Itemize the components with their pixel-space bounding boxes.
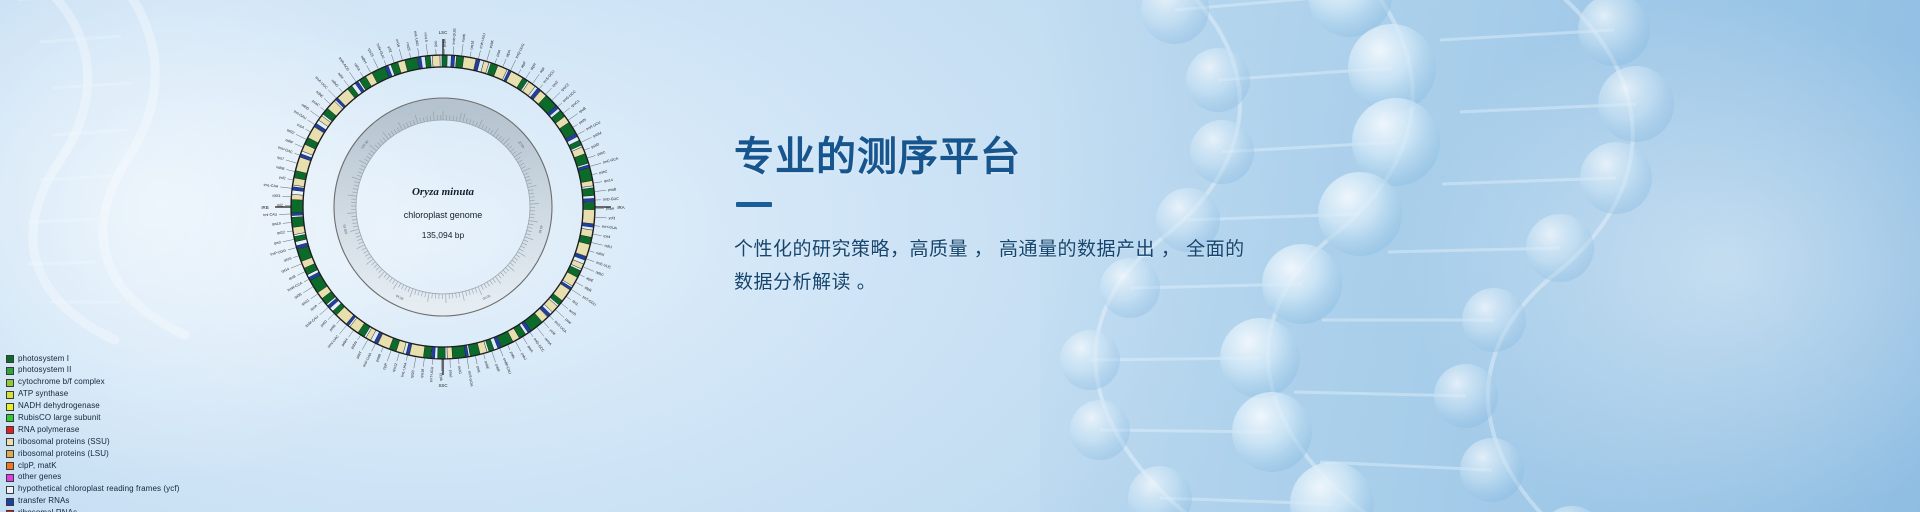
gene-label: trnT-GGU bbox=[582, 295, 598, 307]
gene-label: rps2 bbox=[551, 80, 559, 88]
legend-label: photosystem I bbox=[18, 354, 69, 365]
gene-label: rps11 bbox=[301, 298, 310, 306]
gene-label: trnN-GUU bbox=[376, 43, 386, 60]
legend-label: other genes bbox=[18, 472, 61, 483]
legend-label: ribosomal proteins (SSU) bbox=[18, 437, 110, 448]
gene-label: trnS-GGA bbox=[467, 371, 474, 388]
legend-swatch bbox=[6, 426, 14, 434]
legend-item: ribosomal proteins (SSU) bbox=[6, 436, 179, 448]
hero-subtitle: 个性化的研究策略，高质量 ， 高通量的数据产出 ， 全面的数据分析解读 。 bbox=[734, 233, 1264, 300]
legend-label: clpP, matK bbox=[18, 461, 57, 472]
genome-species-name: Oryza minuta bbox=[412, 186, 475, 198]
gene-label: rpl16 bbox=[283, 256, 292, 262]
gene-label: atpF bbox=[520, 60, 527, 69]
region-label-ssc: SSC bbox=[438, 383, 447, 388]
gene-label: atpE bbox=[586, 276, 595, 283]
gene-label: ndhA bbox=[353, 62, 361, 72]
gene-label: ycf4 bbox=[549, 328, 556, 336]
gene-label: ndhJ bbox=[604, 244, 613, 250]
gene-label: rps8 bbox=[288, 274, 296, 281]
gene-label: rps3 bbox=[274, 240, 282, 245]
gene-label: rpl23 bbox=[272, 194, 280, 199]
title-underline-rule bbox=[736, 202, 772, 207]
gene-label: trnW-CCA bbox=[287, 281, 304, 293]
legend-item: RubisCO large subunit bbox=[6, 412, 179, 424]
gene-label: rrn5 bbox=[433, 41, 437, 48]
gene-label: trnI-GAU bbox=[293, 109, 307, 120]
gene-label: ycf1 bbox=[387, 46, 393, 54]
gene-label: rpl36 bbox=[294, 292, 303, 300]
genome-length: 135,094 bp bbox=[422, 230, 465, 240]
gene-label: trnfM-CAU bbox=[502, 357, 512, 375]
gene-label: ndhK bbox=[596, 251, 606, 257]
gene-label: ycf2 bbox=[279, 175, 286, 180]
gene-label: petL bbox=[476, 366, 481, 374]
gene-label: ccsA bbox=[296, 123, 305, 131]
gene-label: petG bbox=[457, 366, 462, 374]
gene-segment bbox=[486, 339, 494, 351]
gene-label: psaI bbox=[564, 317, 572, 325]
gene-segment bbox=[451, 56, 455, 67]
legend-item: hypothetical chloroplast reading frames … bbox=[6, 484, 179, 496]
gene-label: psbC bbox=[597, 150, 607, 157]
gene-label: ndhH bbox=[360, 55, 368, 65]
gene-label: trnC-GCA bbox=[602, 156, 619, 164]
gene-label: trnH-GUG bbox=[452, 28, 457, 45]
gene-label: psbF bbox=[494, 364, 501, 374]
legend-label: hypothetical chloroplast reading frames … bbox=[18, 484, 179, 495]
genome-legend: photosystem Iphotosystem IIcytochrome b/… bbox=[6, 353, 179, 512]
legend-label: photosystem II bbox=[18, 365, 71, 376]
gene-label: atpA bbox=[505, 49, 512, 58]
gene-label: ndhI bbox=[337, 72, 344, 80]
gene-label: trnD-GUC bbox=[603, 197, 620, 202]
gene-label: rpoC2 bbox=[560, 83, 570, 93]
gene-label: ycf3 bbox=[609, 216, 616, 220]
legend-label: ribosomal RNAs bbox=[18, 508, 77, 512]
gene-label: rbcL bbox=[571, 299, 579, 306]
legend-item: ribosomal RNAs bbox=[6, 508, 179, 512]
legend-item: cytochrome b/f complex bbox=[6, 377, 179, 389]
gene-label: ndhD bbox=[301, 103, 311, 112]
legend-label: ribosomal proteins (LSU) bbox=[18, 449, 109, 460]
gene-label: psbN bbox=[350, 340, 358, 350]
legend-swatch bbox=[6, 450, 14, 458]
page-title: 专业的测序平台 bbox=[734, 136, 1354, 178]
gene-label: psbH bbox=[341, 337, 349, 346]
gene-label: ndhB bbox=[276, 165, 286, 171]
gene-label: matK bbox=[461, 33, 466, 42]
gene-segment bbox=[583, 209, 595, 224]
gene-segment bbox=[432, 56, 440, 67]
gene-label: petD bbox=[320, 319, 329, 327]
gene-label: psbJ bbox=[520, 352, 527, 361]
gene-label: psaB bbox=[608, 187, 617, 192]
legend-swatch bbox=[6, 355, 14, 363]
gene-label: psbZ bbox=[599, 169, 608, 175]
gene-label: rpoC1 bbox=[570, 99, 580, 108]
gene-segment bbox=[431, 347, 435, 358]
gene-segment bbox=[438, 347, 446, 358]
gene-label: atpH bbox=[529, 62, 537, 71]
gene-label: rpl2 bbox=[277, 203, 283, 207]
gene-label: rrn4.5 bbox=[423, 32, 428, 42]
gene-label: rrn16 bbox=[395, 38, 401, 47]
gene-label: trnM-CAU bbox=[305, 315, 320, 329]
gene-label: trnT-UGU bbox=[429, 366, 434, 382]
gene-label: atpI bbox=[539, 67, 546, 74]
gene-label: rps7 bbox=[277, 155, 285, 161]
legend-item: ATP synthase bbox=[6, 389, 179, 401]
gene-label: rpl33 bbox=[439, 373, 443, 381]
hero-copy-block: 专业的测序平台 个性化的研究策略，高质量 ， 高通量的数据产出 ， 全面的数据分… bbox=[734, 136, 1354, 300]
legend-item: NADH dehydrogenase bbox=[6, 401, 179, 413]
gene-segment bbox=[294, 234, 306, 241]
gene-label: trnV-GAC bbox=[277, 145, 293, 154]
gene-label: trnL-CAA bbox=[263, 183, 279, 189]
legend-swatch bbox=[6, 462, 14, 470]
legend-swatch bbox=[6, 367, 14, 375]
legend-item: photosystem II bbox=[6, 365, 179, 377]
gene-segment bbox=[292, 187, 303, 192]
gene-segment bbox=[442, 56, 447, 67]
legend-label: RNA polymerase bbox=[18, 425, 79, 436]
region-label-irb: IRB bbox=[261, 205, 268, 210]
gene-segment bbox=[462, 57, 476, 70]
gene-label: rpoA bbox=[310, 303, 319, 311]
gene-label: ndhF bbox=[285, 138, 295, 145]
gene-label: psbM bbox=[592, 131, 602, 138]
gene-label: rps15 bbox=[367, 48, 374, 58]
gene-label: rps19 bbox=[272, 222, 281, 227]
gene-label: psaA bbox=[606, 207, 615, 211]
gene-label: rps16 bbox=[469, 40, 475, 50]
gene-label: accD bbox=[568, 308, 577, 317]
legend-item: other genes bbox=[6, 472, 179, 484]
gene-label: trnE-UUC bbox=[596, 261, 612, 270]
legend-label: NADH dehydrogenase bbox=[18, 401, 100, 412]
legend-item: ribosomal proteins (LSU) bbox=[6, 448, 179, 460]
gene-label: petN bbox=[578, 117, 587, 125]
gene-label: trnF-GAA bbox=[362, 352, 373, 368]
gene-label: psbA bbox=[443, 38, 447, 47]
gene-label: rpl14 bbox=[281, 267, 290, 274]
gene-label: trnA-UGC bbox=[314, 76, 328, 90]
region-label-lsc: LSC bbox=[439, 30, 448, 35]
legend-swatch bbox=[6, 379, 14, 387]
gene-label: trnV-UAC bbox=[327, 334, 340, 349]
gene-label: rps14 bbox=[604, 178, 614, 183]
legend-label: ATP synthase bbox=[18, 389, 68, 400]
gene-label: psbK bbox=[489, 39, 495, 49]
gene-segment bbox=[292, 217, 304, 228]
gene-label: psbT bbox=[355, 350, 363, 360]
gene-label: psbI bbox=[495, 49, 501, 57]
gene-label: rps18 bbox=[420, 369, 425, 378]
gene-label: petA bbox=[527, 345, 535, 354]
region-label-ira: IRA bbox=[617, 205, 624, 210]
gene-label: trnR-UCU bbox=[586, 120, 602, 131]
gene-label: trnL-UAG bbox=[413, 31, 419, 47]
legend-swatch bbox=[6, 498, 14, 506]
legend-swatch bbox=[6, 414, 14, 422]
gene-segment bbox=[405, 58, 419, 71]
legend-swatch bbox=[6, 438, 14, 446]
hero-banner: psbAtrnH-GUGmatKrps16trnK-UUUpsbKpsbIatp… bbox=[0, 0, 1920, 512]
gene-label: trnY-GUA bbox=[602, 225, 618, 231]
legend-item: clpP, matK bbox=[6, 460, 179, 472]
gene-label: trnP-UGG bbox=[270, 248, 287, 256]
gene-label: psaC bbox=[311, 99, 320, 108]
gene-label: ndhE bbox=[315, 90, 324, 99]
gene-label: rpl22 bbox=[277, 230, 286, 235]
gene-label: trnK-UUU bbox=[479, 32, 487, 48]
gene-label: ndhC bbox=[595, 270, 605, 277]
gene-label: trnL-UAA bbox=[400, 362, 407, 378]
gene-label: rpl20 bbox=[410, 370, 415, 379]
gene-segment bbox=[583, 198, 594, 202]
legend-item: RNA polymerase bbox=[6, 424, 179, 436]
chloroplast-genome-map: psbAtrnH-GUGmatKrps16trnK-UUUpsbKpsbIatp… bbox=[243, 6, 643, 408]
gene-segment bbox=[582, 188, 594, 196]
gene-label: psbB bbox=[375, 353, 382, 363]
legend-item: transfer RNAs bbox=[6, 496, 179, 508]
gene-label: rps4 bbox=[603, 234, 611, 239]
gene-label: rpl32 bbox=[286, 128, 295, 135]
gene-label: atpB bbox=[584, 286, 593, 293]
gene-label: psaJ bbox=[448, 370, 452, 378]
gene-label: rpoB bbox=[578, 106, 587, 114]
legend-swatch bbox=[6, 474, 14, 482]
legend-swatch bbox=[6, 391, 14, 399]
legend-item: photosystem I bbox=[6, 353, 179, 365]
gene-label: psbL bbox=[509, 351, 516, 360]
gene-segment bbox=[292, 194, 303, 200]
legend-label: cytochrome b/f complex bbox=[18, 377, 105, 388]
gene-label: trnQ-UUG bbox=[515, 43, 526, 59]
gene-segment bbox=[481, 61, 489, 73]
gene-label: rrn23 bbox=[405, 42, 411, 51]
legend-swatch bbox=[6, 486, 14, 494]
legend-label: RubisCO large subunit bbox=[18, 413, 101, 424]
legend-swatch bbox=[6, 403, 14, 411]
gene-label: psbE bbox=[484, 361, 490, 371]
gene-label: petB bbox=[329, 323, 337, 332]
gene-label: cemA bbox=[544, 337, 553, 347]
genome-subtitle: chloroplast genome bbox=[404, 210, 483, 220]
gene-label: clpP bbox=[382, 362, 388, 371]
gene-segment bbox=[450, 346, 465, 358]
gene-label: ndhG bbox=[330, 79, 339, 88]
gene-label: psbD bbox=[591, 142, 601, 149]
gene-label: trnR-ACG bbox=[338, 56, 350, 71]
gene-segment bbox=[425, 56, 431, 67]
gene-label: trnI-CAU bbox=[263, 213, 278, 218]
legend-label: transfer RNAs bbox=[18, 496, 70, 507]
gene-label: rps12 bbox=[392, 363, 398, 373]
gene-label: trnG-GCC bbox=[533, 337, 546, 353]
gene-segment bbox=[447, 347, 453, 358]
